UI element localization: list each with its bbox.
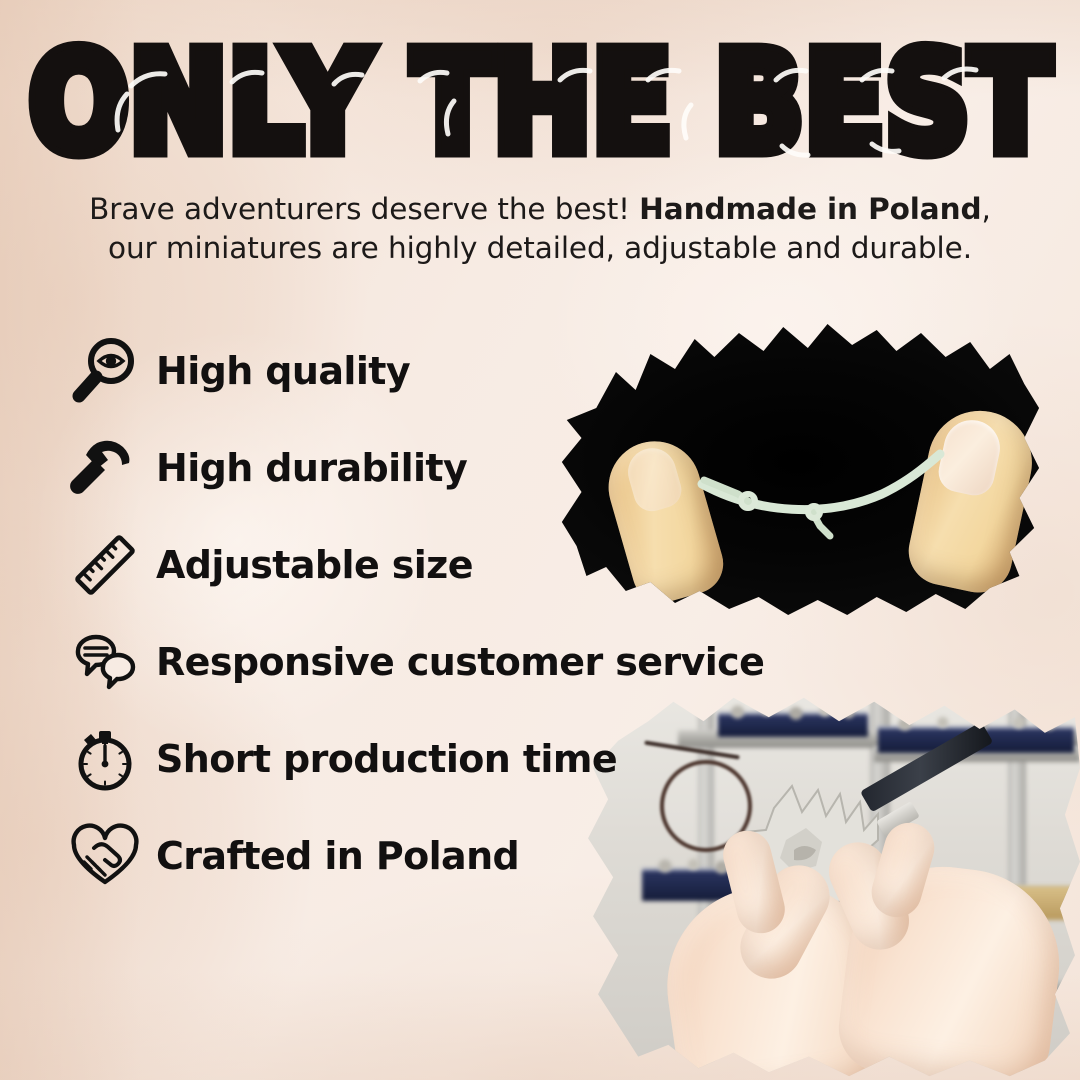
feature-label: Adjustable size: [156, 543, 473, 587]
subtitle-bold: Handmade in Poland: [639, 192, 981, 226]
magnifier-eye-icon: [62, 328, 148, 414]
feature-item: Crafted in Poland: [62, 807, 802, 904]
headline-container: ONLY THE BEST: [0, 34, 1080, 152]
feature-item: Short production time: [62, 710, 802, 807]
feature-label: Responsive customer service: [156, 640, 764, 684]
promo-poster: ONLY THE BEST Brave adventu: [0, 0, 1080, 1080]
feature-item: High quality: [62, 322, 802, 419]
feature-item: Responsive customer service: [62, 613, 802, 710]
feature-label: Crafted in Poland: [156, 834, 519, 878]
subtitle-line-2: our miniatures are highly detailed, adju…: [0, 229, 1080, 268]
stopwatch-icon: [62, 716, 148, 802]
speech-bubbles-icon: [62, 619, 148, 705]
feature-label: High quality: [156, 349, 410, 393]
feature-item: High durability: [62, 419, 802, 516]
subtitle-tail: ,: [982, 192, 991, 226]
subtitle: Brave adventurers deserve the best! Hand…: [0, 190, 1080, 268]
feature-label: High durability: [156, 446, 467, 490]
heart-handshake-icon: [62, 813, 148, 899]
feature-list: High quality High durability: [62, 322, 802, 904]
subtitle-lead: Brave adventurers deserve the best!: [89, 192, 639, 226]
ruler-icon: [62, 522, 148, 608]
subtitle-line-1: Brave adventurers deserve the best! Hand…: [0, 190, 1080, 229]
page-title: ONLY THE BEST: [29, 34, 1051, 171]
feature-item: Adjustable size: [62, 516, 802, 613]
hammer-icon: [62, 425, 148, 511]
feature-label: Short production time: [156, 737, 617, 781]
